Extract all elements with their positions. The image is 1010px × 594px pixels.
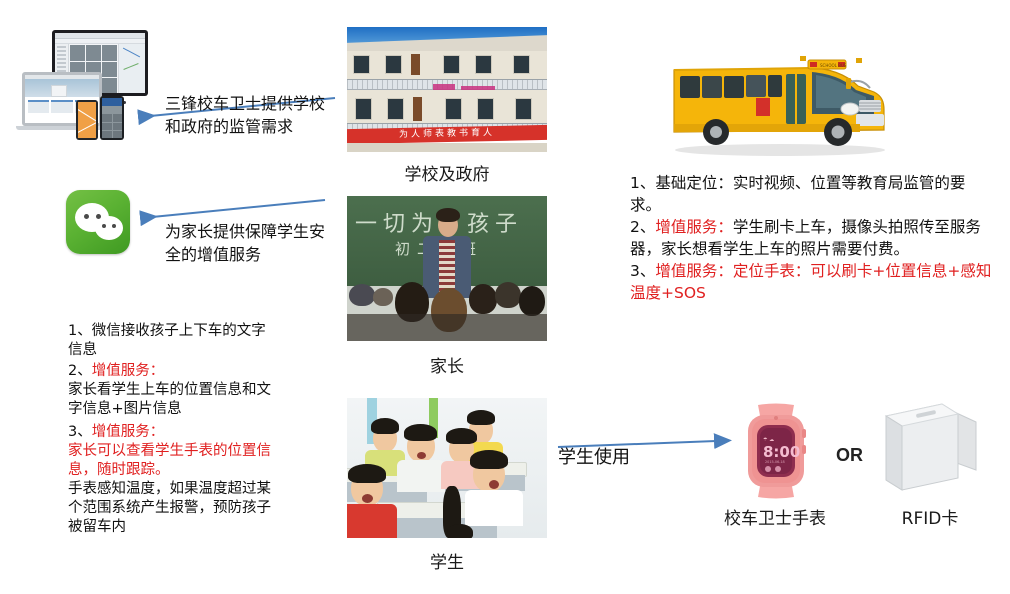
school-banner-text: 为人师表教书育人	[347, 125, 547, 144]
left-notes-block: 1、微信接收孩子上下车的文字信息 2、增值服务： 家长看学生上车的位置信息和文字…	[68, 322, 273, 537]
svg-text:SCHOOL BUS: SCHOOL BUS	[820, 63, 847, 68]
callout-monitor-text: 三锋校车卫士提供学校和政府的监管需求	[165, 92, 330, 138]
students-classroom-photo	[347, 398, 547, 538]
left-note-4: 手表感知温度，如果温度超过某个范围系统产生报警，预防孩子被留车内	[68, 480, 273, 537]
label-students: 学生	[347, 548, 547, 573]
left-note-2-num: 2、	[68, 363, 92, 379]
right-note-1-num: 1、	[630, 174, 655, 192]
right-note-2-head: 增值服务：	[655, 218, 733, 236]
kids-gps-watch: ☂ ☁ 8:00 2015-06-18	[732, 403, 820, 499]
left-note-1: 1、微信接收孩子上下车的文字信息	[68, 322, 273, 360]
left-note-4-text: 手表感知温度，如果温度超过某个范围系统产生报警，预防孩子被留车内	[68, 481, 271, 535]
parents-meeting-photo: 一切为了孩子 初二三班	[347, 196, 547, 341]
right-notes-block: 1、基础定位：实时视频、位置等教育局监管的要求。 2、增值服务：学生刷卡上车，摄…	[630, 172, 992, 304]
label-rfid-card: RFID卡	[855, 504, 1005, 529]
right-note-3-num: 3、	[630, 262, 655, 280]
right-note-1: 1、基础定位：实时视频、位置等教育局监管的要求。	[630, 172, 992, 216]
right-note-3-head: 增值服务：	[655, 262, 733, 280]
label-school-gov: 学校及政府	[347, 160, 547, 185]
left-note-3-text: 家长可以查看学生手表的位置信息，随时跟踪。	[68, 443, 271, 478]
left-note-2: 2、增值服务： 家长看学生上车的位置信息和文字信息+图片信息	[68, 362, 273, 419]
left-note-1-text: 微信接收孩子上下车的文字信息	[68, 323, 266, 358]
school-building-photo: 为人师表教书育人	[347, 27, 547, 152]
wechat-logo	[66, 190, 130, 254]
left-note-1-num: 1、	[68, 323, 92, 339]
label-watch: 校车卫士手表	[700, 504, 850, 529]
left-note-3: 3、增值服务： 家长可以查看学生手表的位置信息，随时跟踪。	[68, 423, 273, 480]
wechat-bubble-small	[95, 216, 123, 240]
right-note-1-head: 基础定位：	[655, 174, 733, 192]
left-note-3-num: 3、	[68, 424, 92, 440]
right-note-2-num: 2、	[630, 218, 655, 236]
svg-text:2015-06-18: 2015-06-18	[765, 460, 785, 464]
rfid-card	[876, 400, 980, 500]
right-note-3: 3、增值服务：定位手表：可以刷卡+位置信息+感知温度+SOS	[630, 260, 992, 304]
school-bus-photo: SCHOOL BUS	[660, 40, 895, 160]
right-note-2: 2、增值服务：学生刷卡上车，摄像头拍照传至服务器，家长想看学生上车的照片需要付费…	[630, 216, 992, 260]
left-note-3-head: 增值服务：	[92, 424, 165, 440]
left-note-2-head: 增值服务：	[92, 363, 165, 379]
monitoring-dashboard-devices	[18, 28, 138, 136]
callout-wechat-text: 为家长提供保障学生安全的增值服务	[165, 220, 325, 266]
phone-map-device	[76, 100, 98, 140]
phone-video-device	[100, 96, 124, 140]
or-label: OR	[836, 445, 863, 466]
svg-text:8:00: 8:00	[763, 443, 800, 461]
label-student-uses: 学生使用	[558, 443, 630, 469]
label-parents: 家长	[347, 352, 547, 377]
left-note-2-text: 家长看学生上车的位置信息和文字信息+图片信息	[68, 382, 271, 417]
